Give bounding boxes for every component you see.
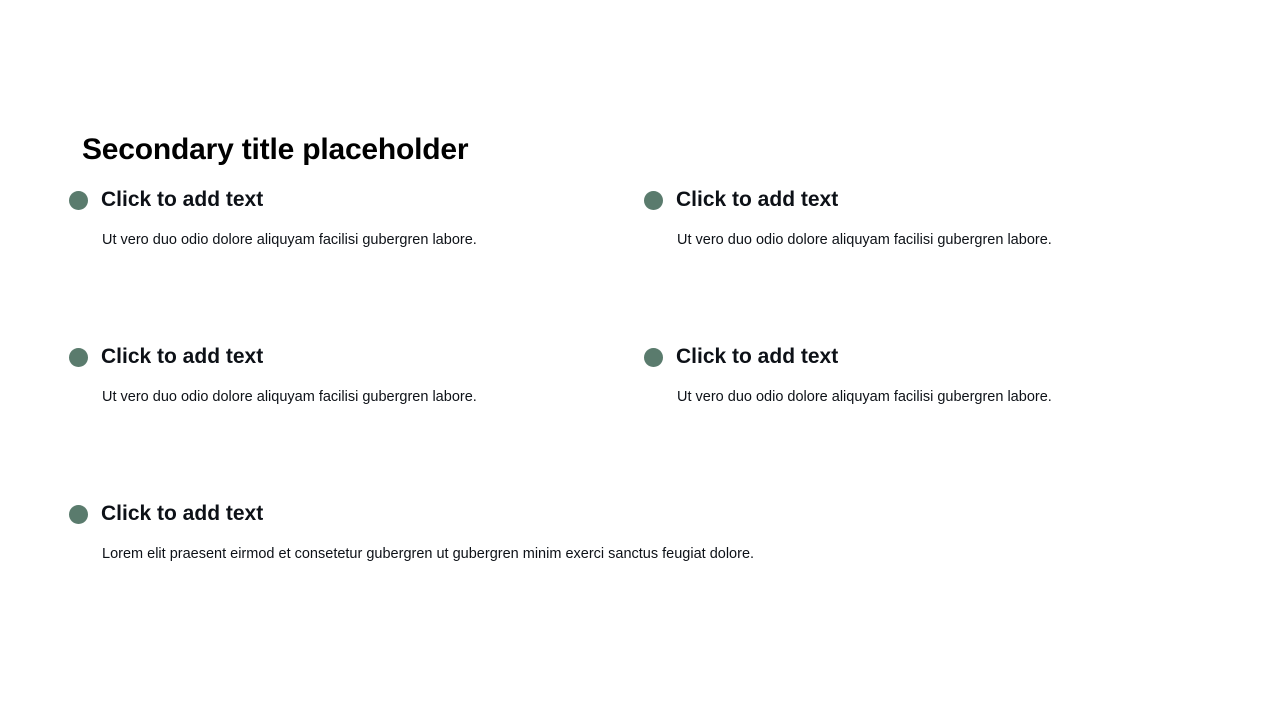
bullet-heading[interactable]: Click to add text: [101, 187, 263, 213]
content-row-1: Click to add text Ut vero duo odio dolor…: [0, 186, 1280, 343]
content-row-3: Click to add text Lorem elit praesent ei…: [0, 500, 1280, 657]
content-grid: Click to add text Ut vero duo odio dolor…: [0, 186, 1280, 657]
bullet-body-text[interactable]: Ut vero duo odio dolore aliquyam facilis…: [102, 387, 629, 408]
bullet-heading[interactable]: Click to add text: [676, 187, 838, 213]
placeholder-item-4[interactable]: Click to add text Ut vero duo odio dolor…: [644, 343, 1204, 408]
page-title[interactable]: Secondary title placeholder: [82, 131, 468, 169]
slide-canvas: Secondary title placeholder Click to add…: [0, 0, 1280, 720]
placeholder-item-2[interactable]: Click to add text Ut vero duo odio dolor…: [644, 186, 1204, 251]
placeholder-item-5[interactable]: Click to add text Lorem elit praesent ei…: [69, 500, 1209, 565]
bullet-heading[interactable]: Click to add text: [101, 344, 263, 370]
bullet-heading-row: Click to add text: [644, 186, 1204, 214]
bullet-circle-icon: [644, 191, 663, 210]
bullet-body-text[interactable]: Lorem elit praesent eirmod et consetetur…: [102, 544, 1209, 565]
bullet-body-text[interactable]: Ut vero duo odio dolore aliquyam facilis…: [677, 230, 1204, 251]
bullet-circle-icon: [69, 191, 88, 210]
bullet-circle-icon: [644, 348, 663, 367]
placeholder-item-1[interactable]: Click to add text Ut vero duo odio dolor…: [69, 186, 629, 251]
bullet-body-text[interactable]: Ut vero duo odio dolore aliquyam facilis…: [677, 387, 1204, 408]
bullet-circle-icon: [69, 505, 88, 524]
bullet-heading-row: Click to add text: [69, 500, 1209, 528]
bullet-heading-row: Click to add text: [644, 343, 1204, 371]
bullet-heading[interactable]: Click to add text: [101, 501, 263, 527]
bullet-heading[interactable]: Click to add text: [676, 344, 838, 370]
bullet-circle-icon: [69, 348, 88, 367]
bullet-heading-row: Click to add text: [69, 186, 629, 214]
bullet-heading-row: Click to add text: [69, 343, 629, 371]
bullet-body-text[interactable]: Ut vero duo odio dolore aliquyam facilis…: [102, 230, 629, 251]
content-row-2: Click to add text Ut vero duo odio dolor…: [0, 343, 1280, 500]
placeholder-item-3[interactable]: Click to add text Ut vero duo odio dolor…: [69, 343, 629, 408]
